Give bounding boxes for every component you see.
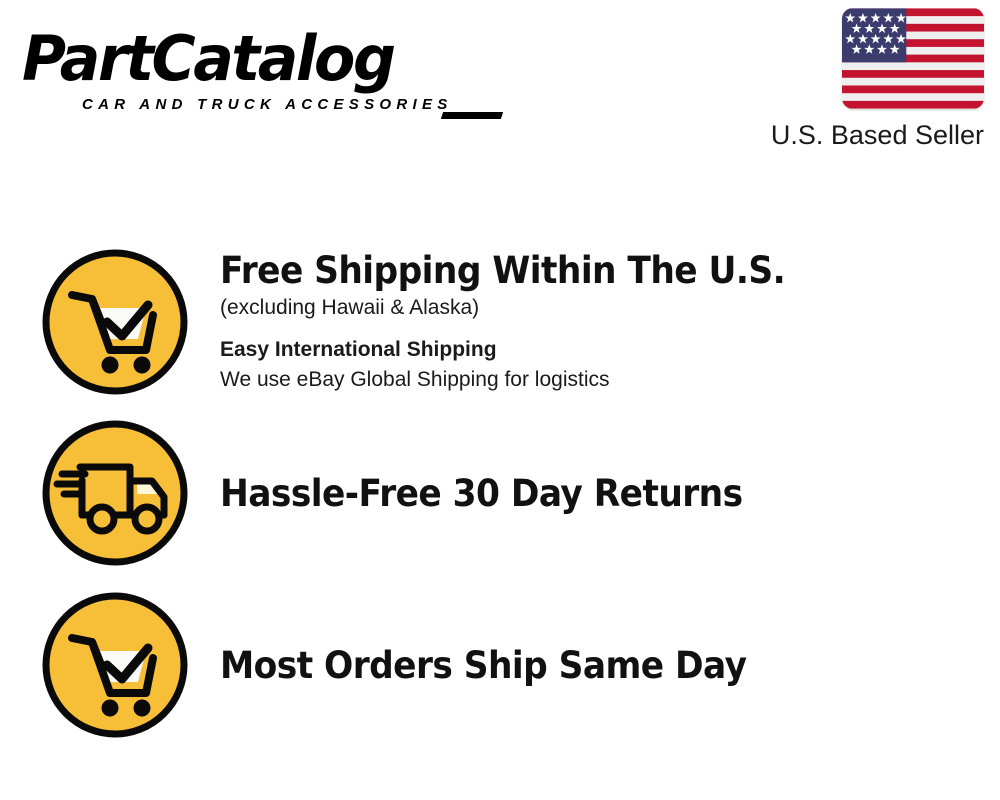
feature-text-same-day: Most Orders Ship Same Day [220, 642, 786, 688]
brand-logo[interactable]: PartCatalog CAR AND TRUCK ACCESSORIES [22, 24, 492, 119]
shopping-cart-check-icon [40, 590, 190, 740]
us-based-seller-badge: U.S. Based Seller [714, 8, 984, 151]
feature-sub-heading: Easy International Shipping [220, 335, 828, 365]
feature-subtitle: (excluding Hawaii & Alaska) [220, 293, 828, 323]
brand-underline-accent [441, 112, 503, 119]
delivery-truck-icon [40, 418, 190, 568]
feature-title: Hassle-Free 30 Day Returns [220, 472, 743, 516]
brand-wordmark: PartCatalog [22, 24, 394, 94]
feature-text-free-shipping: Free Shipping Within The U.S. (excluding… [220, 247, 828, 395]
feature-text-returns: Hassle-Free 30 Day Returns [220, 470, 782, 516]
shopping-cart-check-icon [40, 247, 190, 397]
us-flag-icon [842, 8, 984, 109]
feature-title: Most Orders Ship Same Day [220, 644, 746, 688]
feature-sub-detail: We use eBay Global Shipping for logistic… [220, 365, 828, 395]
page-header: PartCatalog CAR AND TRUCK ACCESSORIES [0, 0, 1000, 170]
brand-tagline: CAR AND TRUCK ACCESSORIES [82, 96, 453, 113]
feature-title: Free Shipping Within The U.S. [220, 249, 785, 293]
seller-badge-label: U.S. Based Seller [714, 120, 984, 151]
feature-row-same-day: Most Orders Ship Same Day [40, 590, 786, 740]
feature-row-returns: Hassle-Free 30 Day Returns [40, 418, 782, 568]
feature-row-free-shipping: Free Shipping Within The U.S. (excluding… [40, 247, 828, 397]
